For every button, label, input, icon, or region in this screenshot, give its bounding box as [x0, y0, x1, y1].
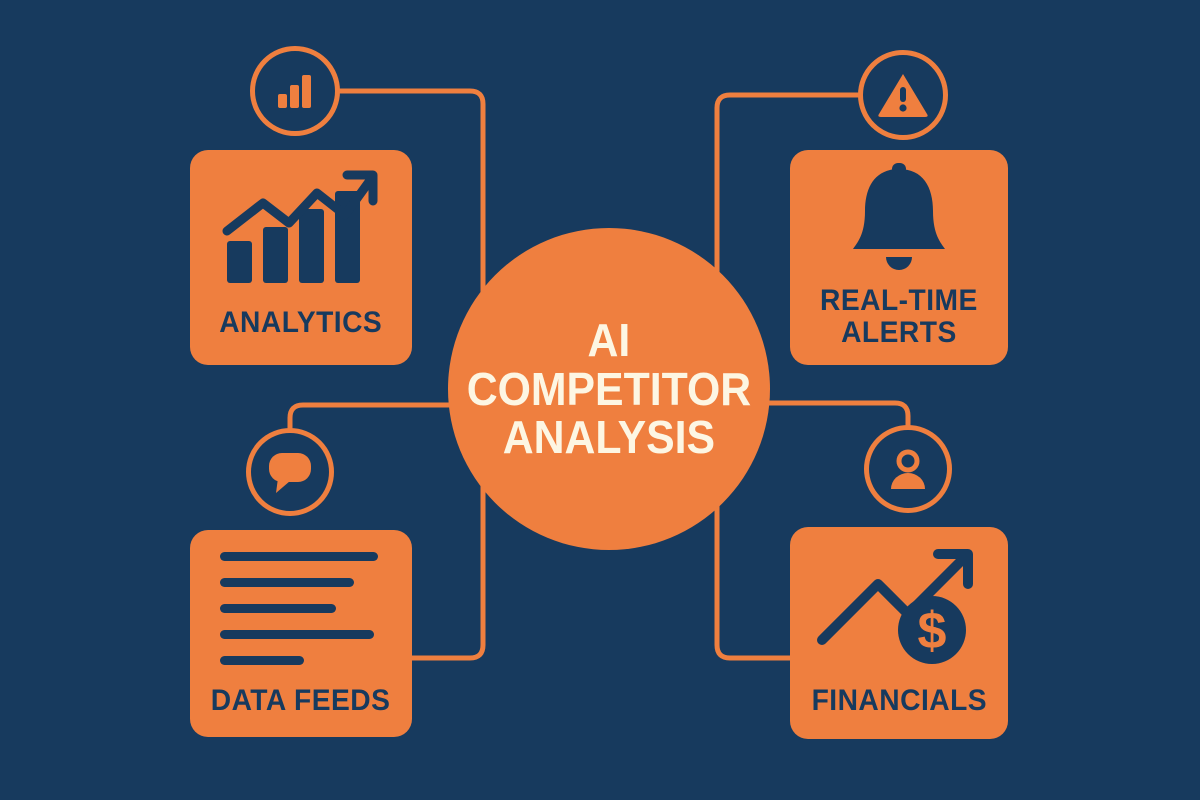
card-analytics[interactable]: ANALYTICS: [190, 150, 412, 365]
document-lines-icon: [220, 548, 382, 668]
bell-icon: [839, 159, 959, 277]
connector-financials-badge: [766, 403, 908, 425]
card-analytics-label: ANALYTICS: [219, 307, 382, 365]
svg-text:$: $: [918, 602, 947, 660]
financials-badge[interactable]: [864, 425, 952, 513]
central-hub[interactable]: AI COMPETITOR ANALYSIS: [448, 228, 770, 550]
card-financials-label: FINANCIALS: [811, 685, 986, 739]
chat-bubble-icon: [264, 448, 316, 496]
infographic-canvas: ANALYTICS REAL-TIME ALERTS: [0, 0, 1200, 800]
card-alerts-label: REAL-TIME ALERTS: [820, 285, 978, 365]
bar-chart-magnifier-icon: [272, 68, 318, 114]
analytics-badge[interactable]: [250, 46, 340, 136]
datafeeds-badge[interactable]: [246, 428, 334, 516]
financials-art: $: [790, 527, 1008, 685]
card-alerts[interactable]: REAL-TIME ALERTS: [790, 150, 1008, 365]
user-person-icon: [883, 444, 933, 494]
card-datafeeds-label: DATA FEEDS: [211, 685, 391, 737]
bar-chart-trend-up-icon: [221, 169, 381, 289]
datafeeds-art: [190, 530, 412, 685]
connector-datafeeds-badge: [290, 405, 452, 428]
connector-hub-financials: [717, 476, 790, 658]
card-financials[interactable]: $ FINANCIALS: [790, 527, 1008, 739]
trend-up-dollar-coin-icon: $: [816, 544, 982, 668]
analytics-art: [190, 150, 412, 307]
card-datafeeds[interactable]: DATA FEEDS: [190, 530, 412, 737]
hub-title: AI COMPETITOR ANALYSIS: [467, 316, 751, 462]
alerts-badge[interactable]: [858, 50, 948, 140]
connector-hub-datafeeds: [412, 478, 483, 658]
alerts-art: [790, 150, 1008, 285]
warning-triangle-icon: [876, 70, 930, 120]
